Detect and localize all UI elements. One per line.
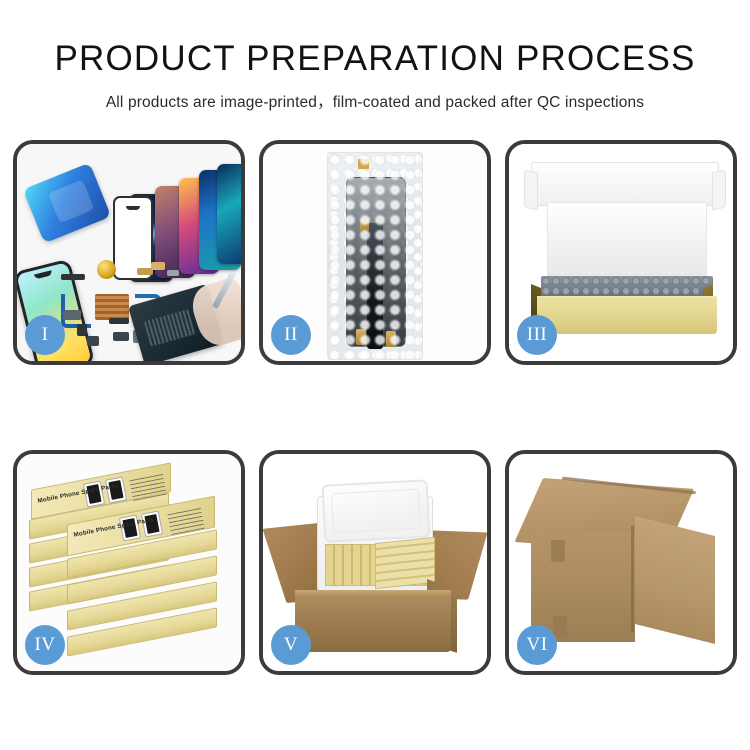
product-preparation-infographic: PRODUCT PREPARATION PROCESS All products… [0, 0, 750, 750]
carton-tape-top [551, 540, 565, 562]
gold-connector-3 [360, 219, 369, 231]
process-step-6[interactable]: VI [505, 450, 737, 675]
header: PRODUCT PREPARATION PROCESS All products… [0, 38, 750, 112]
sealed-carton [523, 478, 719, 650]
bubble-wrap-bag [327, 152, 423, 360]
step-badge-5: V [271, 625, 311, 665]
process-step-grid: I II [13, 140, 737, 675]
bag-tape [358, 159, 369, 169]
white-foam-sheet [547, 202, 707, 276]
carton-vertical-edge [631, 526, 634, 632]
process-step-5[interactable]: V [259, 450, 491, 675]
component-chip-8 [87, 336, 99, 346]
gold-connector-2 [386, 331, 396, 347]
process-step-1[interactable]: I [13, 140, 245, 365]
component-chip-3 [113, 332, 129, 341]
inner-yellow-boxes-row-2 [375, 537, 435, 589]
component-chip-6 [63, 310, 81, 320]
step-badge-4: IV [25, 625, 65, 665]
box-lid-back [531, 162, 719, 206]
page-subtitle: All products are image-printed，film-coat… [0, 90, 750, 112]
step-badge-2: II [271, 315, 311, 355]
component-chip-5 [151, 262, 165, 270]
component-chip-2 [77, 324, 87, 336]
process-step-2[interactable]: II [259, 140, 491, 365]
component-chip-10 [109, 318, 129, 324]
speaker-component [97, 260, 116, 279]
step-badge-1: I [25, 315, 65, 355]
blue-adhesive-film [23, 163, 111, 244]
box-front-panel [537, 300, 717, 334]
component-chip-9 [167, 270, 179, 276]
step-badge-6: VI [517, 625, 557, 665]
carton-tape-bottom [553, 616, 567, 638]
process-step-3[interactable]: III [505, 140, 737, 365]
carton-side-face [635, 516, 715, 644]
open-inner-box [521, 158, 721, 347]
page-title: PRODUCT PREPARATION PROCESS [0, 38, 750, 80]
component-chip-1 [61, 274, 85, 280]
part-dark-strip [367, 223, 383, 349]
carton-front-panel [295, 590, 451, 652]
step-badge-3: III [517, 315, 557, 355]
gold-connector-1 [356, 329, 366, 345]
copper-mesh-component [95, 294, 129, 320]
open-carton [277, 472, 473, 658]
process-step-4[interactable]: Mobile Phone Spare Parts Mobile Phone Sp… [13, 450, 245, 675]
carton-front-face [531, 532, 635, 642]
phone-5 [217, 164, 245, 264]
foam-box-lid [322, 479, 431, 542]
